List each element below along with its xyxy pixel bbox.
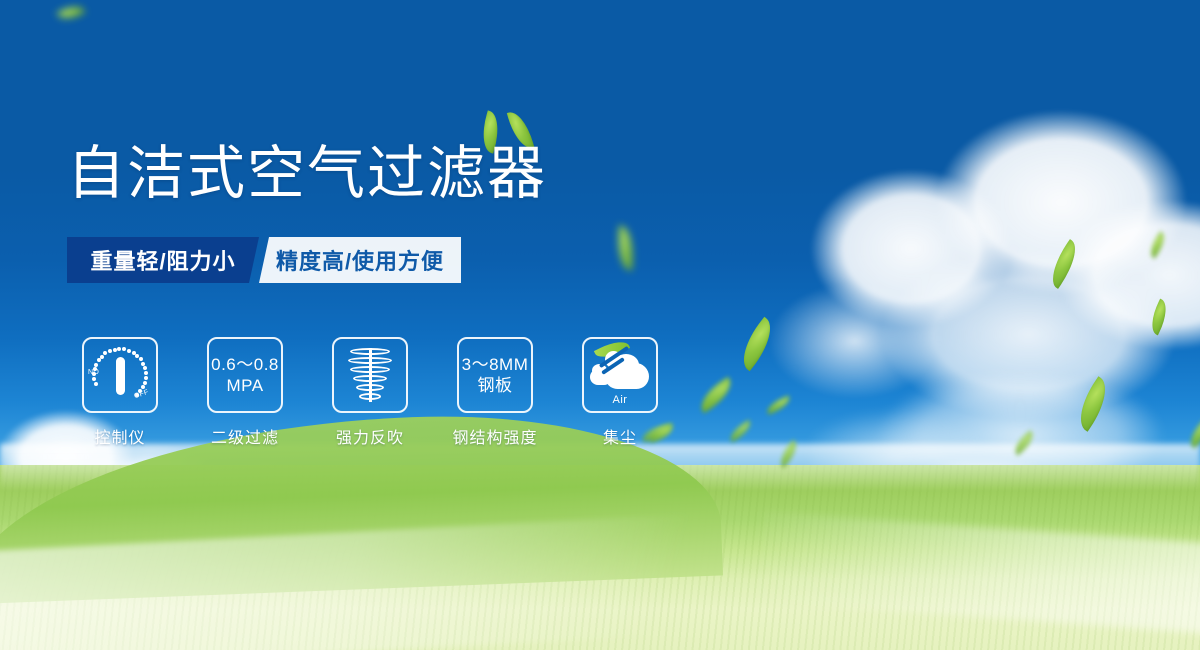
gauge-tick <box>103 351 107 355</box>
feature-item-backblow[interactable]: 强力反吹 <box>332 337 408 448</box>
gauge-tick <box>113 348 117 352</box>
feature-icon-box: 3〜8MM 钢板 <box>457 337 533 413</box>
pressure-text-icon: 0.6〜0.8 MPA <box>211 354 279 396</box>
gauge-tick <box>144 376 148 380</box>
spiral-ring <box>350 366 390 373</box>
leaf-icon <box>694 377 737 413</box>
gauge-tick <box>94 382 98 386</box>
gauge-tick <box>92 377 96 381</box>
spiral-ring <box>350 348 390 355</box>
leaf-icon <box>615 225 636 270</box>
spiral-ring <box>348 357 392 364</box>
feature-label: 强力反吹 <box>336 424 404 448</box>
leaf-icon <box>726 420 754 443</box>
gauge-tick <box>139 357 143 361</box>
subtitle-tag-secondary: 精度高/使用方便 <box>259 237 461 283</box>
gauge-tick <box>127 349 131 353</box>
gauge-tick <box>117 347 121 351</box>
gauge-tick <box>144 371 148 375</box>
subtitle-tag-bar: 重量轻/阻力小 精度高/使用方便 <box>67 237 461 283</box>
spiral-ring <box>359 393 381 400</box>
feature-label: 集尘 <box>603 424 637 448</box>
gauge-tick <box>141 362 145 366</box>
spiral-airflow-icon <box>343 346 397 404</box>
feature-item-secondary-filter[interactable]: 0.6〜0.8 MPA 二级过滤 <box>207 337 283 448</box>
feature-icon-box: 0.6〜0.8 MPA <box>207 337 283 413</box>
air-label: Air <box>589 394 651 406</box>
gauge-tick <box>94 363 98 367</box>
gauge-tick <box>143 381 147 385</box>
gauge-icon: NO OFF <box>89 344 151 406</box>
feature-icon-box <box>332 337 408 413</box>
gauge-needle <box>116 357 125 395</box>
leaf-icon <box>56 1 85 25</box>
feature-icon-box: Air <box>582 337 658 413</box>
gauge-tick <box>108 349 112 353</box>
gauge-tick <box>122 347 126 351</box>
feature-item-dust-collection[interactable]: Air 集尘 <box>582 337 658 448</box>
gauge-tick <box>135 393 139 397</box>
subtitle-tag-primary: 重量轻/阻力小 <box>67 237 259 283</box>
gauge-tick <box>100 355 104 359</box>
spiral-ring <box>356 384 384 391</box>
feature-item-steel-strength[interactable]: 3〜8MM 钢板 钢结构强度 <box>457 337 533 448</box>
page-title: 自洁式空气过滤器 <box>67 145 547 203</box>
spiral-ring <box>353 375 387 382</box>
steel-plate-text-icon: 3〜8MM 钢板 <box>462 354 529 396</box>
feature-label: 控制仪 <box>94 424 145 448</box>
gauge-tick <box>93 367 97 371</box>
gauge-tick <box>97 358 101 362</box>
cloud-air-icon: Air <box>589 347 651 403</box>
feature-icon-box: NO OFF <box>82 337 158 413</box>
feature-list: NO OFF 控制仪 0.6〜0.8 MPA 二级过滤 <box>82 337 658 448</box>
feature-label: 钢结构强度 <box>453 424 538 448</box>
gauge-tick <box>143 366 147 370</box>
hero-banner: 自洁式空气过滤器 重量轻/阻力小 精度高/使用方便 NO OFF 控制仪 0.6… <box>0 0 1200 650</box>
feature-label: 二级过滤 <box>211 424 279 448</box>
feature-item-controller[interactable]: NO OFF 控制仪 <box>82 337 158 448</box>
